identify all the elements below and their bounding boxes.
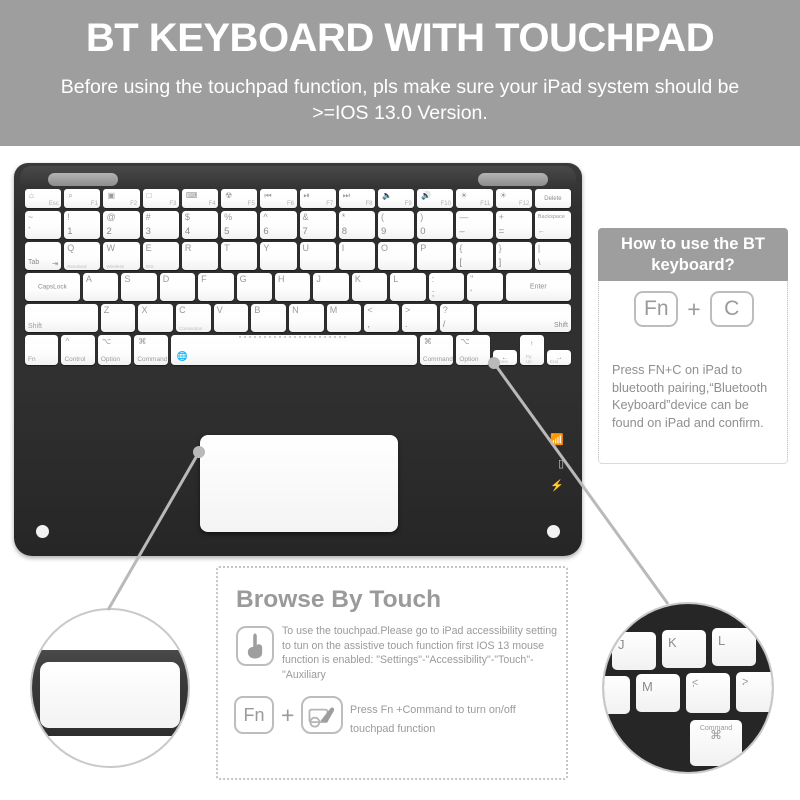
key-label: – [459,227,464,237]
fn-keycap: Fn [234,696,274,734]
key-bracket-left[interactable]: { [ [456,242,492,270]
browse-paragraph-1: To use the touchpad.Please go to iPad ac… [282,624,560,682]
key-f8[interactable]: ⏭ F8 [339,189,375,208]
control-glyph-icon: ^ [65,338,69,346]
key-sublabel: Resolved [67,264,86,269]
key-label: X [141,306,147,315]
key-label: 1 [67,227,72,237]
how-to-use-card: How to use the BT keyboard? Fn + C Press… [598,228,788,464]
key-shift-label: | [538,244,540,253]
key-label: F5 [248,201,255,207]
key-label: K [355,275,361,284]
function-key-row: ⌂ Esc ⌕ F1 ▣ F2 □ F3 [25,189,571,208]
key-label: Enter [506,284,572,291]
key-label: L [393,275,398,284]
qwerty-key-row: Tab ⇥ Q Resolved W Wireless E IOS [25,242,571,270]
key-label: ` [28,227,31,237]
fn-keycap: Fn [634,291,678,327]
page-title: BT KEYBOARD WITH TOUCHPAD [0,16,800,61]
key-sublabel: Connection [179,326,202,331]
key-label: I [342,244,345,253]
browse-paragraph-2: Press Fn +Command to turn on/off touchpa… [350,701,560,739]
magnified-key-command: ⌘ Command [690,720,742,766]
key-c[interactable]: C Connection [176,304,211,332]
key-spacebar[interactable]: 🌐 [171,335,417,365]
key-q[interactable]: Q Resolved [64,242,100,270]
bottom-key-row: Fn ^ Control ⌥ Option ⌘ Command [25,335,571,365]
key-label: Fn [28,356,36,363]
key-label: 8 [342,227,347,237]
key-w[interactable]: W Wireless [103,242,139,270]
key-f4[interactable]: ⌨ F4 [182,189,218,208]
key-f[interactable]: F [198,273,233,301]
key-label: Z [104,306,110,315]
key-y[interactable]: Y [260,242,296,270]
key-label: 2 [106,227,111,237]
key-f11[interactable]: ☀ F11 [456,189,492,208]
key-backslash[interactable]: | \ [535,242,571,270]
globe-icon: 🌐 [177,351,188,362]
key-shift-right[interactable]: Shift [477,304,571,332]
key-shift-label: : [432,275,435,284]
brightness-down-icon: ☀ [460,192,467,200]
key-f3[interactable]: □ F3 [143,189,179,208]
tab-arrow-icon: ⇥ [52,260,58,268]
key-semicolon[interactable]: : ; [429,273,464,301]
next-track-icon: ⏭ [343,192,350,200]
key-0[interactable]: ) 0 [417,211,453,239]
keyboard-icon: ⌨ [186,192,198,200]
rubber-foot-right [547,525,560,538]
key-shift-label: ) [420,213,423,222]
key-label: . [742,677,745,708]
key-shift-label: ? [443,306,448,315]
keys-magnifier: J K L N M < , > . ⌘ Co [602,602,774,774]
key-label: B [254,306,260,315]
key-shift-label: } [499,244,502,253]
finger-touch-icon [236,626,274,666]
header-subtitle: Before using the touchpad function, pls … [60,74,740,126]
key-equals[interactable]: + = [496,211,532,239]
key-label: ' [470,289,472,299]
key-label: U [303,244,310,253]
play-pause-icon: ⏯ [304,192,310,200]
key-6[interactable]: ^ 6 [260,211,296,239]
key-label: ; [432,289,435,299]
hinge-right [478,173,548,186]
key-shift-label: { [459,244,462,253]
key-h[interactable]: H [275,273,310,301]
number-key-row: ~ ` ! 1 @ 2 # 3 [25,211,571,239]
home-key-row: CapsLock A S D F G H J K L : ; [25,273,571,301]
key-label: W [106,244,115,253]
key-tab[interactable]: Tab ⇥ [25,242,61,270]
key-sublabel: Wireless [106,264,124,269]
charging-icon: ⚡ [550,481,564,492]
key-l[interactable]: L [390,273,425,301]
key-d[interactable]: D [160,273,195,301]
backspace-arrow-icon: ← [538,227,545,237]
key-f10[interactable]: 🔊 F10 [417,189,453,208]
key-enter[interactable]: Enter [506,273,572,301]
key-shift-label: + [499,213,504,222]
rubber-foot-left [36,525,49,538]
key-t[interactable]: T [221,242,257,270]
key-label: 0 [420,227,425,237]
shift-key-row: Shift Z X C Connection V B N M < , [25,304,571,332]
key-label: F1 [91,201,98,207]
key-label: G [240,275,247,284]
key-label: F11 [480,201,490,207]
infographic-page: BT KEYBOARD WITH TOUCHPAD Before using t… [0,0,800,800]
key-z[interactable]: Z [101,304,136,332]
fn-c-combo: Fn + C [599,291,789,327]
magnified-key-m: M [636,674,680,712]
key-n[interactable]: N [289,304,324,332]
key-sublabel: Pg Up [526,354,538,364]
key-1[interactable]: ! 1 [64,211,100,239]
key-o[interactable]: O [378,242,414,270]
key-shift-label: " [470,275,473,284]
bluetooth-icon: 📶 [550,435,564,446]
volume-up-icon: 🔊 [421,192,431,200]
key-label: Q [67,244,74,253]
key-label: CapsLock [25,284,80,291]
key-p[interactable]: P [417,242,453,270]
key-j[interactable]: J [313,273,348,301]
magnified-touchpad [40,662,180,728]
key-shift-label: # [146,213,151,222]
key-label: V [217,306,223,315]
how-to-use-body: Press FN+C on iPad to bluetooth pairing,… [612,362,780,432]
key-label: Option [101,356,120,363]
key-label: F4 [209,201,216,207]
key-8[interactable]: * 8 [339,211,375,239]
key-label: L [718,633,725,648]
arrow-up-icon: ↑ [520,341,544,348]
key-label: Esc [49,201,59,207]
key-label: F10 [441,201,451,207]
key-period[interactable]: > . [402,304,437,332]
key-label: A [86,275,92,284]
how-to-use-heading: How to use the BT keyboard? [598,228,788,281]
key-label: = [499,227,505,237]
command-glyph-icon: ⌘ [424,338,432,346]
previous-track-icon: ⏮ [264,192,271,200]
key-command-left[interactable]: ⌘ Command [134,335,167,365]
key-3[interactable]: # 3 [143,211,179,239]
key-e[interactable]: E IOS [143,242,179,270]
key-label: K [668,635,677,650]
key-label: [ [459,258,462,268]
key-label: 7 [303,227,308,237]
key-label: Delete [535,196,571,202]
key-k[interactable]: K [352,273,387,301]
key-control[interactable]: ^ Control [61,335,94,365]
key-sublabel: IOS [146,264,154,269]
spacebar-texture [239,336,349,338]
key-shift-label: @ [106,213,115,222]
key-shift-label: ^ [263,213,267,222]
key-arrow-updown[interactable]: ↑ Pg Up [520,335,544,365]
key-label: 6 [263,227,268,237]
key-label: F3 [169,201,176,207]
magnified-key-n: N [602,676,630,714]
browse-by-touch-card: Browse By Touch To use the touchpad.Plea… [216,566,568,780]
plus-sign: + [687,296,700,323]
battery-icon: ▯ [558,459,564,470]
key-label: S [124,275,130,284]
key-label: D [163,275,170,284]
key-m[interactable]: M [327,304,362,332]
key-label: \ [538,258,541,268]
key-v[interactable]: V [214,304,249,332]
option-glyph-icon: ⌥ [460,338,469,346]
key-a[interactable]: A [83,273,118,301]
key-7[interactable]: & 7 [300,211,336,239]
magnified-key-l: L [712,628,756,666]
home-icon: ⌂ [29,192,34,200]
key-shift-left[interactable]: Shift [25,304,98,332]
plus-sign: + [281,702,294,729]
key-slash[interactable]: ? / [440,304,475,332]
key-label: P [420,244,426,253]
key-f2[interactable]: ▣ F2 [103,189,139,208]
key-option-left[interactable]: ⌥ Option [98,335,131,365]
siri-icon: ☢ [225,192,232,200]
magnified-key-comma: < , [686,673,730,713]
key-sublabel: End [550,359,558,364]
key-5[interactable]: % 5 [221,211,257,239]
key-g[interactable]: G [237,273,272,301]
key-label: M [330,306,338,315]
key-shift-label: ~ [28,213,33,222]
key-bracket-right[interactable]: } ] [496,242,532,270]
hand-on-touchpad-icon [301,696,343,734]
volume-down-icon: 🔈 [382,192,392,200]
key-label: M [642,679,653,694]
key-label: Y [263,244,269,253]
key-f12[interactable]: ☀ F12 [496,189,532,208]
key-r[interactable]: R [182,242,218,270]
key-label: Shift [28,323,42,330]
key-label: ] [499,258,502,268]
key-u[interactable]: U [300,242,336,270]
key-shift-label: $ [185,213,190,222]
key-backtick[interactable]: ~ ` [25,211,61,239]
magnified-keyboard-deck [30,650,190,736]
keyboard-product-image: ⌂ Esc ⌕ F1 ▣ F2 □ F3 [14,163,582,556]
key-label: , [367,320,370,330]
key-arrow-right[interactable]: → End [547,350,571,365]
key-delete[interactable]: Delete [535,189,571,208]
key-label: F6 [287,201,294,207]
option-glyph-icon: ⌥ [102,338,111,346]
key-comma[interactable]: < , [364,304,399,332]
key-command-right[interactable]: ⌘ Command [420,335,453,365]
key-x[interactable]: X [138,304,173,332]
key-label: . [405,320,408,330]
c-keycap: C [710,291,754,327]
screen-icon: □ [147,192,152,200]
key-s[interactable]: S [121,273,156,301]
key-shift-label: & [303,213,309,222]
key-label: H [278,275,285,284]
key-label: Command [137,356,167,363]
magnified-key-period: > . [736,672,774,712]
key-option-right[interactable]: ⌥ Option [456,335,489,365]
key-shift-label: ! [67,213,70,222]
magnified-key-area: J K L N M < , > . ⌘ Co [602,602,774,774]
key-f5[interactable]: ☢ F5 [221,189,257,208]
key-label: Control [64,356,85,363]
key-b[interactable]: B [251,304,286,332]
key-arrow-left[interactable]: ← Home [493,350,517,365]
key-backspace[interactable]: Backspace ← [535,211,571,239]
app-switch-icon: ▣ [107,192,115,200]
key-label: J [618,637,625,652]
key-label: T [224,244,230,253]
key-label: , [692,678,695,709]
key-label: N [292,306,299,315]
key-label: 5 [224,227,229,237]
magnified-key-j: J [612,632,656,670]
key-label: Tab [28,258,39,268]
key-label: J [316,275,321,284]
keyboard-top-lip [20,166,576,188]
key-label: 9 [381,227,386,237]
brightness-up-icon: ☀ [500,192,507,200]
browse-by-touch-title: Browse By Touch [236,586,441,614]
search-icon: ⌕ [68,192,72,200]
key-label: Command [690,725,742,760]
key-label: Command [423,356,453,363]
key-rows: ⌂ Esc ⌕ F1 ▣ F2 □ F3 [25,189,571,368]
key-label: E [146,244,152,253]
key-f1[interactable]: ⌕ F1 [64,189,100,208]
key-label: C [179,306,186,315]
key-label: 4 [185,227,190,237]
key-label: F7 [326,201,333,207]
key-label: F8 [365,201,372,207]
key-f9[interactable]: 🔈 F9 [378,189,414,208]
key-shift-label: > [405,306,410,315]
key-label: R [185,244,192,253]
key-label: Shift [554,322,568,330]
key-fn[interactable]: Fn [25,335,58,365]
key-quote[interactable]: " ' [467,273,502,301]
key-shift-label: — [459,213,468,222]
header-banner: BT KEYBOARD WITH TOUCHPAD Before using t… [0,0,800,146]
touchpad[interactable] [200,435,398,532]
key-shift-label: ( [381,213,384,222]
key-label: F [201,275,207,284]
key-esc[interactable]: ⌂ Esc [25,189,61,208]
magnified-key-k: K [662,630,706,668]
key-f6[interactable]: ⏮ F6 [260,189,296,208]
key-label: 3 [146,227,151,237]
key-label: O [381,244,388,253]
key-minus[interactable]: — – [456,211,492,239]
touchpad-magnifier [30,608,190,768]
key-label: / [443,320,446,330]
key-4[interactable]: $ 4 [182,211,218,239]
key-capslock[interactable]: CapsLock [25,273,80,301]
key-9[interactable]: ( 9 [378,211,414,239]
fn-command-combo: Fn + [234,696,343,734]
hinge-left [48,173,118,186]
command-glyph-icon: ⌘ [138,338,146,346]
key-label: F2 [130,201,137,207]
key-label: F9 [405,201,412,207]
key-shift-label: < [367,306,372,315]
key-2[interactable]: @ 2 [103,211,139,239]
key-sublabel: Home [496,359,508,364]
key-f7[interactable]: ⏯ F7 [300,189,336,208]
key-label: Backspace [538,213,565,222]
key-shift-label: % [224,213,232,222]
key-shift-label: * [342,213,346,222]
key-i[interactable]: I [339,242,375,270]
keyboard-chassis: ⌂ Esc ⌕ F1 ▣ F2 □ F3 [14,163,582,556]
key-label: Option [459,356,478,363]
key-label: F12 [519,201,529,207]
